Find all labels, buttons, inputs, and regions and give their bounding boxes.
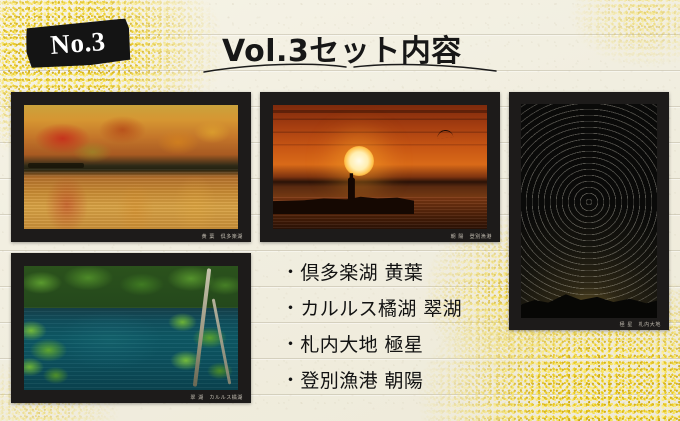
- photo-autumn-foliage: [24, 105, 238, 229]
- title-underline-stroke: [200, 60, 500, 76]
- list-item-label: 登別漁港 朝陽: [300, 366, 423, 393]
- poster-canvas: No.3 Vol.3セット内容 黄 葉 倶多楽湖 朝 陽 登: [0, 0, 680, 421]
- list-item-label: 倶多楽湖 黄葉: [300, 258, 423, 285]
- photo-frame-star-trails[interactable]: 極 星 札内大地: [509, 92, 669, 330]
- photo-caption: 朝 陽 登別漁港: [451, 233, 492, 240]
- list-item: ・ 札内大地 極星: [282, 330, 532, 366]
- list-item: ・ 登別漁港 朝陽: [282, 366, 532, 402]
- photo-caption: 黄 葉 倶多楽湖: [202, 233, 243, 240]
- set-contents-list: ・ 倶多楽湖 黄葉 ・ カルルス橘湖 翠湖 ・ 札内大地 極星 ・ 登別漁港 朝…: [282, 258, 532, 402]
- photo-frame-emerald-lake[interactable]: 翠 湖 カルルス橘湖: [11, 253, 251, 403]
- bullet-marker-icon: ・: [282, 366, 299, 391]
- photo-star-trails: [521, 104, 657, 318]
- photo-caption: 極 星 札内大地: [620, 321, 661, 328]
- photo-emerald-lake: [24, 266, 238, 390]
- bullet-marker-icon: ・: [282, 330, 299, 355]
- photo-sunset-harbour: [273, 105, 487, 229]
- number-badge-label: No.3: [49, 28, 106, 59]
- list-item: ・ 倶多楽湖 黄葉: [282, 258, 532, 294]
- list-item-label: 札内大地 極星: [300, 330, 423, 357]
- photo-caption: 翠 湖 カルルス橘湖: [190, 394, 243, 401]
- list-item-label: カルルス橘湖 翠湖: [300, 294, 462, 321]
- photo-frame-sunset-harbour[interactable]: 朝 陽 登別漁港: [260, 92, 500, 242]
- list-item: ・ カルルス橘湖 翠湖: [282, 294, 532, 330]
- bullet-marker-icon: ・: [282, 258, 299, 283]
- bullet-marker-icon: ・: [282, 294, 299, 319]
- photo-frame-autumn-foliage[interactable]: 黄 葉 倶多楽湖: [11, 92, 251, 242]
